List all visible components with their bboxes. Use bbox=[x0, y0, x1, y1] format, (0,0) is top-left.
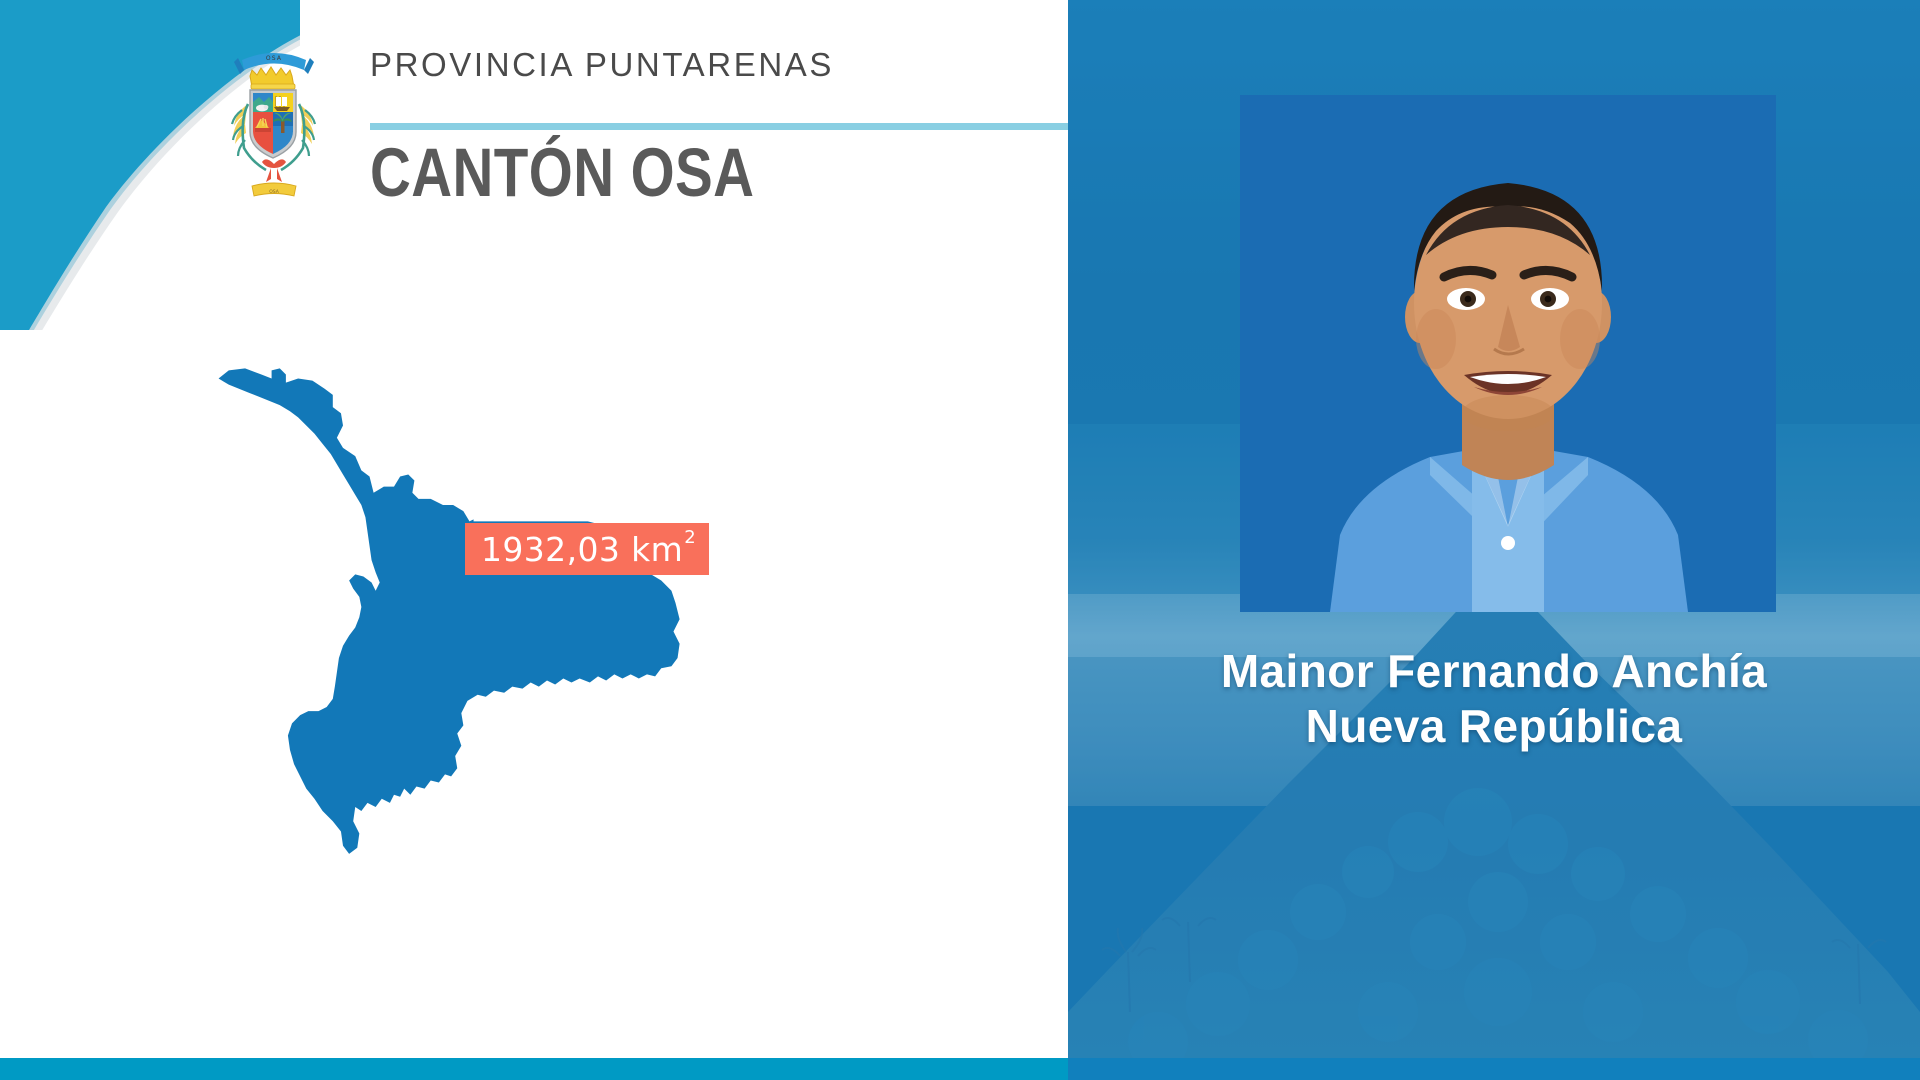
header-divider-rule bbox=[370, 123, 1068, 130]
coat-of-arms-osa-icon: OSA bbox=[224, 40, 324, 200]
bottom-bar-left bbox=[0, 1058, 1068, 1080]
candidate-name: Mainor Fernando Anchía bbox=[1068, 645, 1920, 698]
svg-text:OSA: OSA bbox=[266, 55, 282, 62]
page-title: CANTÓN OSA bbox=[370, 138, 754, 207]
candidate-party: Nueva República bbox=[1068, 700, 1920, 753]
header-text-block: PROVINCIA PUNTARENAS bbox=[370, 48, 1070, 81]
canton-osa-map-silhouette bbox=[200, 350, 700, 870]
svg-text:OSA: OSA bbox=[269, 189, 279, 195]
area-exponent: 2 bbox=[684, 529, 695, 547]
bottom-bar-right bbox=[1068, 1058, 1920, 1080]
right-blue-panel: Mainor Fernando Anchía Nueva República bbox=[1068, 0, 1920, 1060]
slide-root: OSA bbox=[0, 0, 1920, 1080]
province-label: PROVINCIA PUNTARENAS bbox=[370, 48, 1070, 81]
area-badge: 1932,03 km2 bbox=[465, 523, 709, 575]
candidate-portrait-photo bbox=[1240, 95, 1776, 612]
area-value: 1932,03 km bbox=[481, 533, 683, 566]
